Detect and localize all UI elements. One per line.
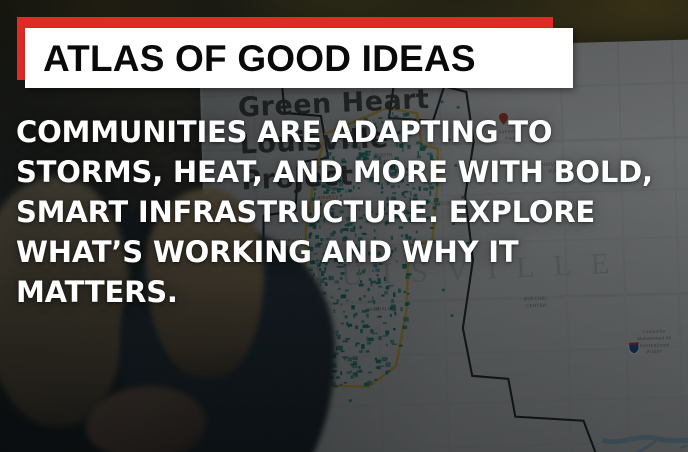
title-block: ATLAS OF GOOD IDEAS: [17, 17, 573, 88]
hero-deck-line: SMART INFRASTRUCTURE. EXPLORE: [16, 192, 636, 232]
hero-deck-line: MATTERS.: [16, 272, 636, 312]
hero-deck-line: WHAT’S WORKING AND WHY IT: [16, 232, 636, 272]
page-title: ATLAS OF GOOD IDEAS: [25, 40, 476, 77]
hero-deck-line: STORMS, HEAT, AND MORE WITH BOLD,: [16, 152, 636, 192]
hero-banner: SOUTH CENTRALOKOLONAHILLS & HARBORWATTER…: [0, 0, 688, 452]
hero-deck-line: COMMUNITIES ARE ADAPTING TO: [16, 112, 636, 152]
hero-deck: COMMUNITIES ARE ADAPTING TOSTORMS, HEAT,…: [16, 112, 636, 312]
title-card: ATLAS OF GOOD IDEAS: [25, 28, 573, 88]
